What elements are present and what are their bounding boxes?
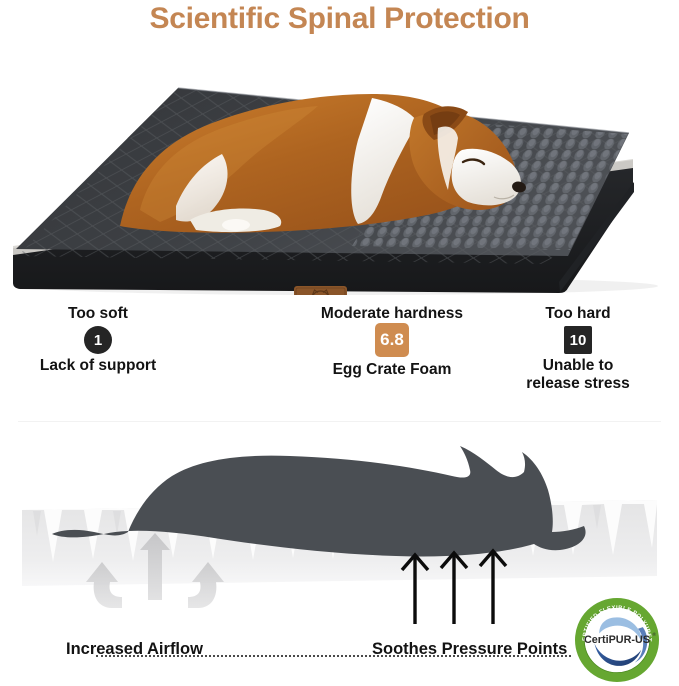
pressure-arrow-2 xyxy=(441,553,467,624)
hardness-scale: Too soft 1 Lack of support Moderate hard… xyxy=(0,305,679,410)
pressure-arrow-1 xyxy=(402,555,428,624)
scale-level-moderate: Moderate hardness 6.8 Egg Crate Foam xyxy=(292,305,492,379)
scale-bottom-label-moderate: Egg Crate Foam xyxy=(292,361,492,379)
certipur-us-logo: CONTAINS CERTIFIED FLEXIBLE POLYURETHANE… xyxy=(565,598,669,682)
infographic-root: Scientific Spinal Protection xyxy=(0,0,679,686)
dog-on-bed-illustration xyxy=(0,50,679,295)
scale-top-label-too-soft: Too soft xyxy=(18,305,178,323)
scale-badge-10: 10 xyxy=(564,326,592,354)
certipur-us-badge: CONTAINS CERTIFIED FLEXIBLE POLYURETHANE… xyxy=(565,598,669,682)
scale-bottom-label-too-hard-line2: release stress xyxy=(498,375,658,393)
page-title: Scientific Spinal Protection xyxy=(0,2,679,36)
scale-top-label-moderate: Moderate hardness xyxy=(292,305,492,323)
scale-bottom-label-too-soft: Lack of support xyxy=(18,357,178,375)
scale-level-too-hard: Too hard 10 Unable to release stress xyxy=(498,305,658,394)
scale-badge-6-8: 6.8 xyxy=(375,323,409,357)
brand-tag xyxy=(294,286,347,295)
pressure-arrow-3 xyxy=(480,551,506,624)
hero-product-photo xyxy=(0,50,679,295)
label-soothes-pressure-points: Soothes Pressure Points xyxy=(372,640,567,659)
scale-badge-1: 1 xyxy=(84,326,112,354)
certipur-wordmark: CertiPUR-US xyxy=(584,634,650,646)
scale-top-label-too-hard: Too hard xyxy=(498,305,658,323)
scale-bottom-label-too-hard-line1: Unable to xyxy=(498,357,658,375)
section-divider xyxy=(18,421,661,422)
scale-level-too-soft: Too soft 1 Lack of support xyxy=(18,305,178,375)
label-increased-airflow: Increased Airflow xyxy=(66,640,203,659)
